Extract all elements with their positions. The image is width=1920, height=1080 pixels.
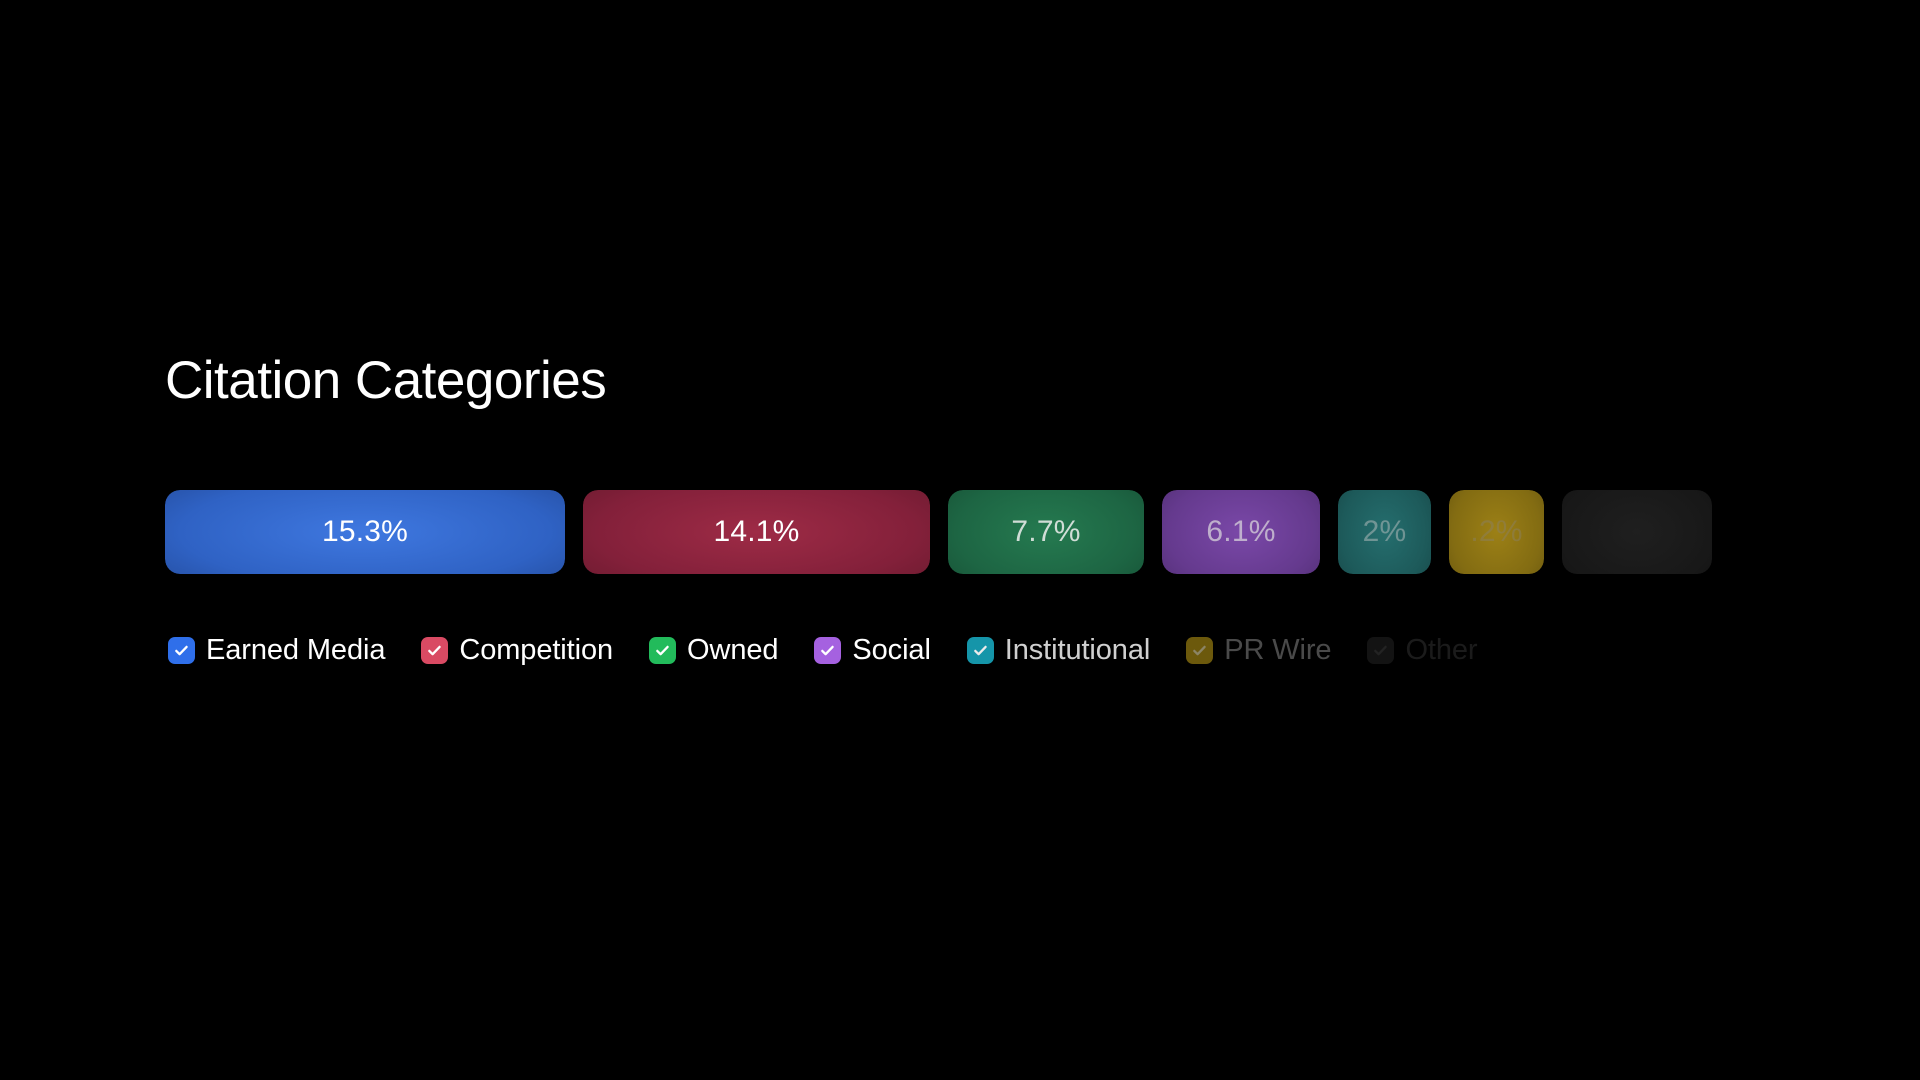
bar-segment-value-label: 6.1%	[1206, 515, 1275, 549]
checkbox-checked-icon[interactable]	[1186, 637, 1213, 664]
checkbox-checked-icon[interactable]	[814, 637, 841, 664]
checkbox-checked-icon[interactable]	[649, 637, 676, 664]
bar-segment-competition[interactable]: 14.1%	[583, 490, 930, 574]
legend-item-earned-media[interactable]: Earned Media	[168, 636, 385, 665]
bar-segment-value-label: 15.3%	[322, 515, 408, 549]
chart-legend: Earned MediaCompetitionOwnedSocialInstit…	[168, 636, 1477, 665]
bar-segment-institutional[interactable]: 2%	[1338, 490, 1431, 574]
bar-segment-value-label: 7.7%	[1011, 515, 1080, 549]
bar-segment-value-label: 14.1%	[713, 515, 799, 549]
bar-segment-value-label: 2%	[1363, 515, 1407, 549]
checkbox-checked-icon[interactable]	[967, 637, 994, 664]
bar-segment-owned[interactable]: 7.7%	[948, 490, 1144, 574]
bar-segment-fill	[1562, 490, 1712, 574]
legend-item-pr-wire[interactable]: PR Wire	[1186, 636, 1331, 665]
chart-canvas: Citation Categories 15.3%14.1%7.7%6.1%2%…	[0, 0, 1920, 1080]
legend-item-label: Social	[852, 636, 930, 665]
bar-segment-pr-wire[interactable]: .2%	[1449, 490, 1544, 574]
legend-item-label: PR Wire	[1224, 636, 1331, 665]
checkbox-checked-icon[interactable]	[1367, 637, 1394, 664]
legend-item-institutional[interactable]: Institutional	[967, 636, 1150, 665]
legend-item-label: Institutional	[1005, 636, 1150, 665]
legend-item-competition[interactable]: Competition	[421, 636, 613, 665]
chart-panel: Citation Categories	[165, 352, 1920, 409]
checkbox-checked-icon[interactable]	[421, 637, 448, 664]
legend-item-label: Owned	[687, 636, 778, 665]
stacked-bar-chart: 15.3%14.1%7.7%6.1%2%.2%	[165, 490, 1920, 574]
bar-segment-social[interactable]: 6.1%	[1162, 490, 1320, 574]
legend-item-label: Earned Media	[206, 636, 385, 665]
bar-segment-value-label: .2%	[1470, 515, 1522, 549]
checkbox-checked-icon[interactable]	[168, 637, 195, 664]
legend-item-social[interactable]: Social	[814, 636, 930, 665]
legend-item-label: Other	[1405, 636, 1477, 665]
bar-segment-other[interactable]	[1562, 490, 1712, 574]
legend-item-owned[interactable]: Owned	[649, 636, 778, 665]
legend-item-label: Competition	[459, 636, 613, 665]
page-title: Citation Categories	[165, 352, 1920, 409]
legend-item-other[interactable]: Other	[1367, 636, 1477, 665]
bar-segment-earned-media[interactable]: 15.3%	[165, 490, 565, 574]
